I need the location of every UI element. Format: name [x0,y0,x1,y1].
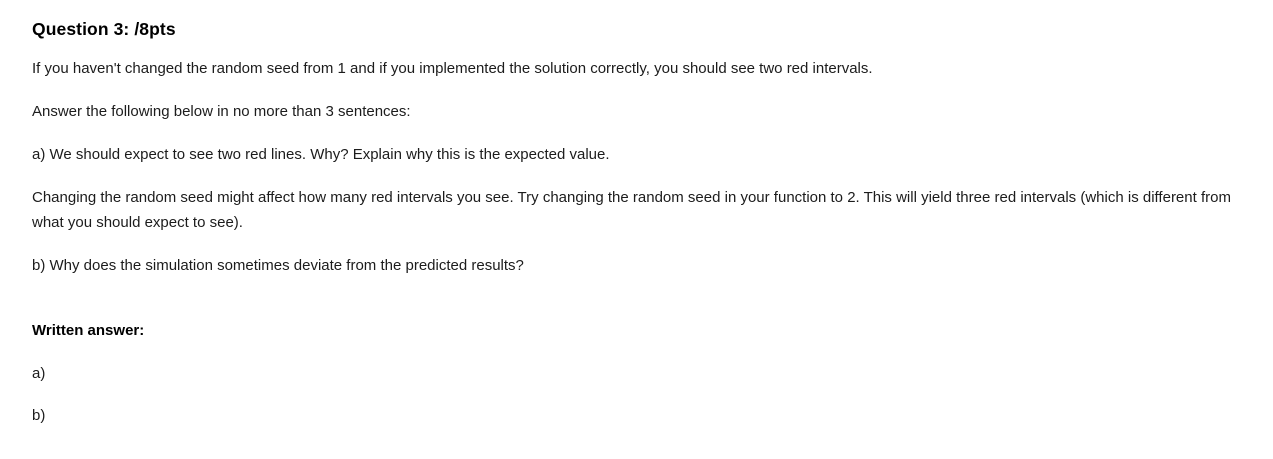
question-b-prompt: b) Why does the simulation sometimes dev… [32,253,1252,278]
section-spacer [32,296,1252,318]
seed-note-paragraph: Changing the random seed might affect ho… [32,185,1252,235]
question-a-prompt: a) We should expect to see two red lines… [32,142,1252,167]
intro-paragraph: If you haven't changed the random seed f… [32,56,1252,81]
page-title: Question 3: /8pts [32,18,1252,40]
answer-stub-b[interactable]: b) [32,403,1252,428]
question-page: Question 3: /8pts If you haven't changed… [0,0,1273,459]
answer-stub-a[interactable]: a) [32,361,1252,386]
written-answer-label: Written answer: [32,318,1252,343]
instruction-paragraph: Answer the following below in no more th… [32,99,1252,124]
